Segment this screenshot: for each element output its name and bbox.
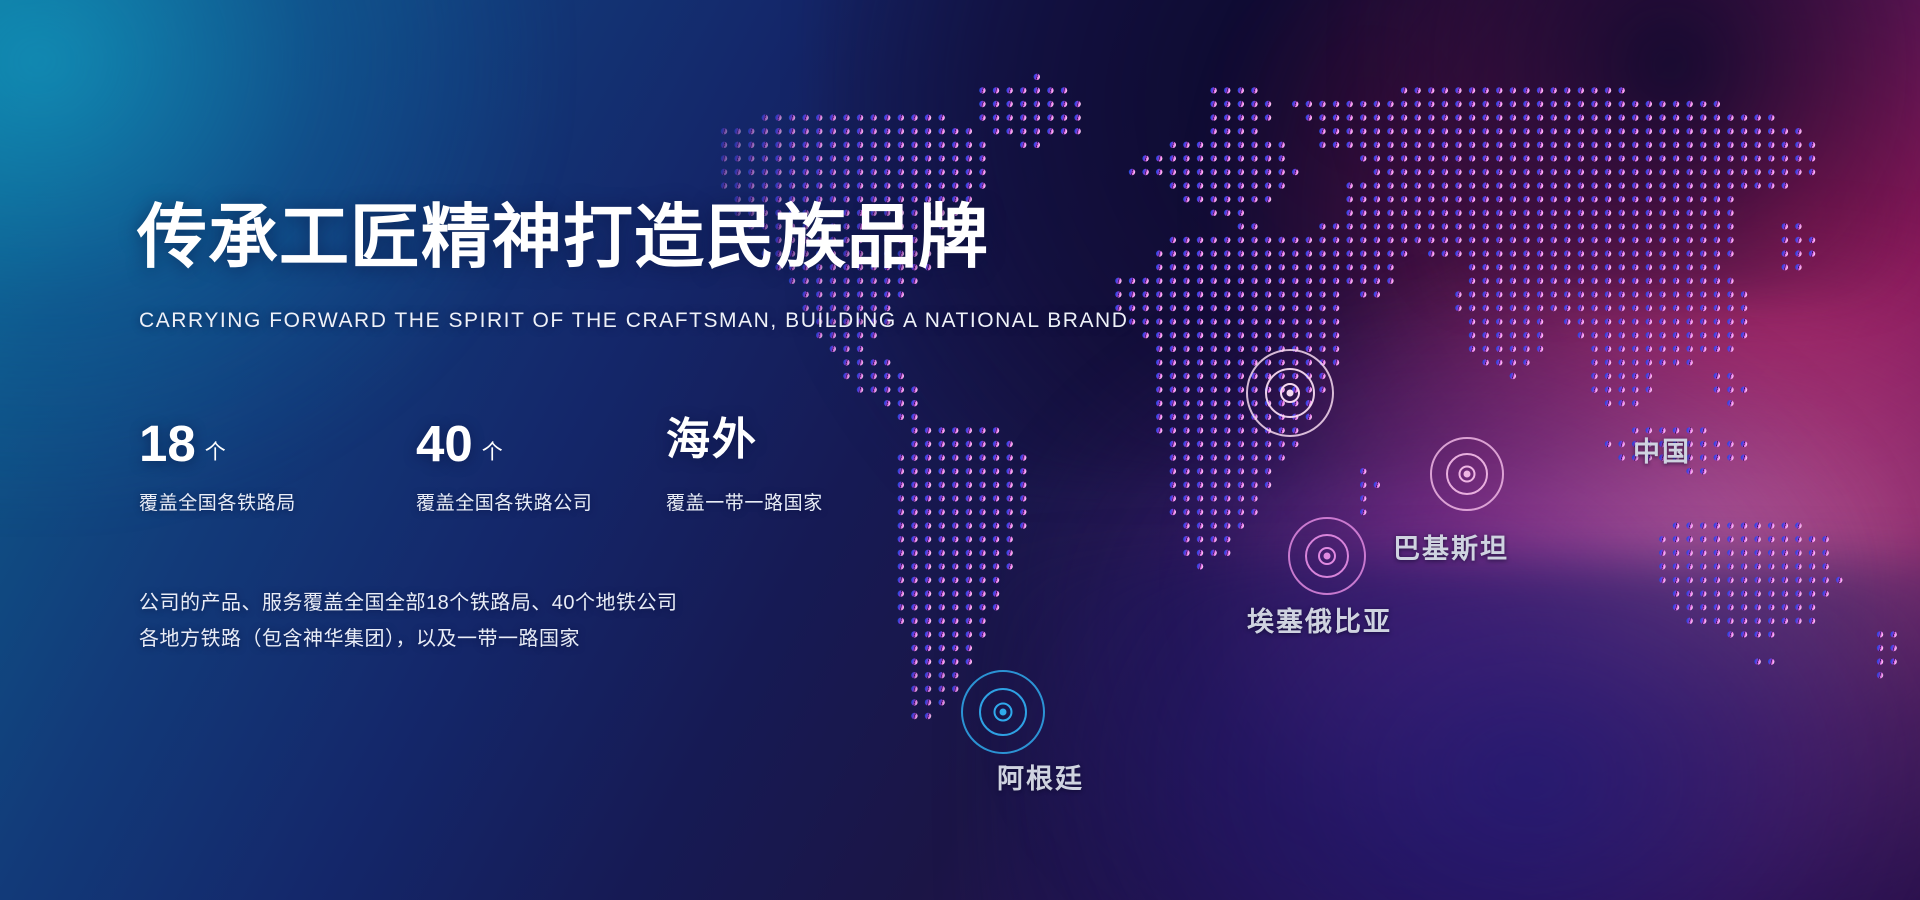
stat-caption: 覆盖一带一路国家 (666, 488, 916, 515)
stat-caption: 覆盖全国各铁路公司 (416, 488, 666, 515)
map-label-ethiopia: 埃塞俄比亚 (1247, 600, 1392, 639)
stat-unit: 个 (205, 436, 226, 466)
stat-item-railway-companies: 40 个 覆盖全国各铁路公司 (416, 418, 666, 515)
stat-value-row: 18 个 (139, 418, 416, 474)
page-title: 传承工匠精神打造民族品牌 (137, 202, 989, 272)
stat-item-railway-bureaus: 18 个 覆盖全国各铁路局 (139, 418, 416, 515)
stats-row: 18 个 覆盖全国各铁路局 40 个 覆盖全国各铁路公司 海外 覆盖一带一路国家 (139, 418, 916, 515)
description-line-1: 公司的产品、服务覆盖全国全部18个铁路局、40个地铁公司 (139, 586, 678, 622)
page-subtitle: CARRYING FORWARD THE SPIRIT OF THE CRAFT… (139, 309, 1128, 333)
content-column: 传承工匠精神打造民族品牌 CARRYING FORWARD THE SPIRIT… (137, 0, 1037, 900)
map-label-china: 中国 (1633, 430, 1691, 469)
stat-value: 18 (139, 418, 196, 469)
marker-center-dot (1324, 553, 1331, 560)
stat-unit: 个 (482, 436, 503, 466)
description-paragraph: 公司的产品、服务覆盖全国全部18个铁路局、40个地铁公司 各地方铁路（包含神华集… (139, 586, 678, 657)
stat-value-row: 海外 (666, 418, 916, 474)
marker-center-dot (1464, 471, 1471, 478)
map-label-pakistan: 巴基斯坦 (1393, 527, 1509, 566)
stat-caption: 覆盖全国各铁路局 (139, 488, 416, 515)
promo-banner: 中国 巴基斯坦 埃塞俄比亚 阿根廷 传承工匠精神打造民族品牌 CARRYING … (0, 0, 1920, 900)
stat-value: 40 (416, 418, 473, 469)
stat-item-overseas: 海外 覆盖一带一路国家 (666, 418, 916, 515)
stat-value-row: 40 个 (416, 418, 666, 474)
marker-center-dot (1287, 390, 1294, 397)
stat-value: 海外 (666, 418, 758, 462)
description-line-2: 各地方铁路（包含神华集团），以及一带一路国家 (139, 622, 678, 658)
